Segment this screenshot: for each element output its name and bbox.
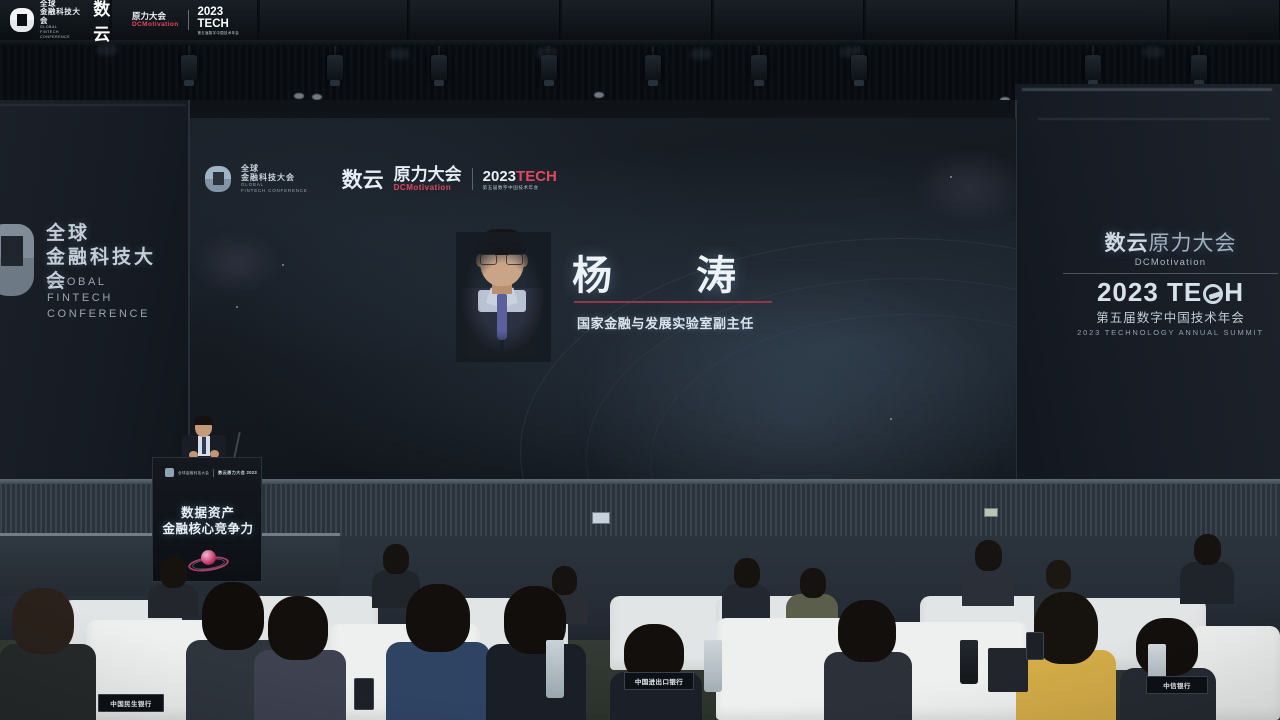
ceiling-spot: [294, 93, 304, 99]
ceiling-light-glow: [96, 44, 118, 56]
screen-star: [950, 176, 952, 178]
right-wall-summit-en: 2023 TECHNOLOGY ANNUAL SUMMIT: [1063, 328, 1278, 337]
speaker-title: 国家金融与发展实验室副主任: [577, 313, 754, 332]
screen-star: [236, 306, 238, 308]
ceiling-truss: [260, 0, 408, 42]
stage-light: [431, 55, 447, 81]
podium-logo-cn: 全球金融科技大会: [178, 471, 209, 475]
stage-light: [851, 55, 867, 81]
wall-light-slot: [1038, 118, 1270, 120]
screen-event-cn: 数云: [342, 164, 384, 194]
audience-member: [1120, 618, 1216, 720]
screen-fintech-en2: FINTECH CONFERENCE: [241, 188, 308, 194]
right-wall-summit-cn: 第五届数字中国技术年会: [1063, 307, 1278, 326]
ceiling-truss: [410, 0, 560, 42]
podium-headline-line2: 金融核心竞争力: [153, 518, 262, 537]
at-swirl-icon: [1203, 284, 1223, 304]
wall-light-slot: [0, 104, 186, 106]
table-placard: 中信银行: [1146, 676, 1208, 694]
ceiling-truss: [714, 0, 864, 42]
screen-event-sub: 原力大会 DCMotivation: [394, 166, 462, 192]
left-wall-cn-line1: 全球: [46, 222, 171, 246]
right-wall-divider: [1063, 273, 1278, 274]
water-bottle: [960, 640, 978, 684]
screen-year-num: 2023: [483, 168, 516, 185]
stage-light: [541, 55, 557, 81]
audience-member: [254, 596, 346, 720]
overlay-fintech-text: 全球 金融科技大会 GLOBAL FINTECH CONFERENCE: [40, 0, 84, 40]
conference-hall-scene: 全球 金融科技大会 GLOBAL FINTECH CONFERENCE 数云原力…: [0, 0, 1280, 720]
audience-member: [486, 586, 586, 720]
left-wall-en-line1: GLOBAL: [47, 274, 171, 290]
speaker-name: 杨 涛: [572, 243, 758, 301]
overlay-divider: [188, 10, 189, 30]
left-wall-branding: 全球 金融科技大会 GLOBAL FINTECH CONFERENCE: [6, 222, 171, 314]
fintech-logo-mark-icon: [10, 8, 31, 32]
right-wall-year: 2023 TEH: [1063, 278, 1278, 306]
placard-label: 中信银行: [1163, 680, 1191, 690]
ceiling-truss: [1170, 0, 1280, 42]
screen-logo-divider: [472, 168, 473, 190]
ceiling-truss: [1018, 0, 1168, 42]
overlay-en-line2: FINTECH CONFERENCE: [40, 30, 84, 40]
right-wall-brand-cn: 数云: [1105, 232, 1149, 255]
audience-member: [824, 600, 912, 720]
broadcast-overlay-logo: 全球 金融科技大会 GLOBAL FINTECH CONFERENCE 数云 原…: [0, 0, 250, 40]
screen-star: [890, 418, 892, 420]
screen-fintech-text: 全球 金融科技大会 GLOBAL FINTECH CONFERENCE: [241, 164, 308, 194]
audience-member: [722, 558, 770, 620]
screen-year-sub: 第五届数字中国技术年会: [483, 185, 557, 191]
mobile-phone: [1026, 632, 1044, 660]
left-wall-en-line2: FINTECH CONFERENCE: [47, 290, 171, 322]
fintech-logo-mark-icon: [0, 224, 34, 296]
right-wall-brand-en: DCMotivation: [1063, 257, 1278, 268]
stage-light: [751, 55, 767, 81]
screen-year-block: 2023TECH 第五届数字中国技术年会: [483, 168, 557, 191]
stage-light: [327, 55, 343, 81]
screen-nebula: [190, 218, 302, 308]
water-bottle: [704, 640, 722, 692]
fintech-logo-mark-icon: [165, 468, 174, 477]
ceiling-light-glow: [388, 48, 410, 60]
wall-light-slot: [1022, 88, 1272, 91]
stage-light: [181, 55, 197, 81]
audience-member: [962, 540, 1014, 606]
ceiling-truss: [562, 0, 712, 42]
screen-event-sub-en: DCMotivation: [394, 183, 462, 192]
overlay-event-sub-en: DCMotivation: [132, 21, 179, 28]
podium-logo-event: 数云原力大会 2023: [218, 470, 257, 476]
right-wall-brand-line: 数云原力大会: [1063, 232, 1278, 256]
speaker-portrait: [466, 232, 538, 357]
laptop: [988, 648, 1028, 692]
podium-logo: 全球金融科技大会 数云原力大会 2023: [165, 468, 257, 477]
speaker-name-divider: [574, 301, 772, 303]
mobile-phone: [354, 678, 374, 710]
screen-star: [282, 264, 284, 266]
stage-light: [1085, 55, 1101, 81]
screen-fintech-cn2: 金融科技大会: [241, 173, 308, 182]
right-wall-brand-cn2: 原力大会: [1149, 232, 1237, 255]
ceiling-light-glow: [690, 48, 712, 60]
screen-year-tail: TECH: [516, 168, 557, 185]
audience-member: [1180, 534, 1234, 604]
water-bottle: [546, 640, 564, 698]
ceiling-light-glow: [1142, 46, 1164, 58]
podium-logo-divider: [213, 469, 214, 477]
overlay-cn-line2: 金融科技大会: [40, 8, 84, 25]
wall-panel-box: [592, 512, 610, 524]
right-wall-year-text: 2023 TE: [1097, 277, 1202, 307]
overlay-year: 2023 TECH: [198, 6, 250, 30]
overlay-year-block: 2023 TECH 第五届数字中国技术年会: [198, 6, 250, 35]
placard-label: 中国进出口银行: [635, 676, 683, 686]
stage-light: [645, 55, 661, 81]
audience-member: [0, 588, 96, 720]
fintech-logo-mark-icon: [205, 166, 231, 192]
screen-fintech-cn1: 全球: [241, 164, 308, 173]
right-wall-year-tail: H: [1224, 277, 1244, 307]
table-placard: 中国民生银行: [98, 694, 164, 712]
overlay-event-sub-cn: 原力大会: [132, 12, 179, 22]
ceiling-truss: [866, 0, 1016, 42]
right-wall-branding: 数云原力大会 DCMotivation 2023 TEH 第五届数字中国技术年会…: [1063, 232, 1278, 336]
screen-header-logo: 全球 金融科技大会 GLOBAL FINTECH CONFERENCE 数云 原…: [205, 164, 557, 194]
overlay-year-sub: 第五届数字中国技术年会: [198, 30, 250, 35]
table-placard: 中国进出口银行: [624, 672, 694, 690]
overlay-event-sub: 原力大会 DCMotivation: [132, 12, 179, 29]
placard-label: 中国民生银行: [110, 698, 151, 708]
wall-panel-box: [984, 508, 998, 517]
stage-light: [1191, 55, 1207, 81]
screen-year: 2023TECH: [483, 168, 557, 185]
audience-member: [386, 584, 490, 720]
overlay-event-cn: 数云: [93, 0, 123, 45]
screen-event-sub-cn: 原力大会: [394, 166, 462, 183]
ceiling-spot: [594, 92, 604, 98]
left-wall-en-text: GLOBAL FINTECH CONFERENCE: [47, 274, 171, 322]
